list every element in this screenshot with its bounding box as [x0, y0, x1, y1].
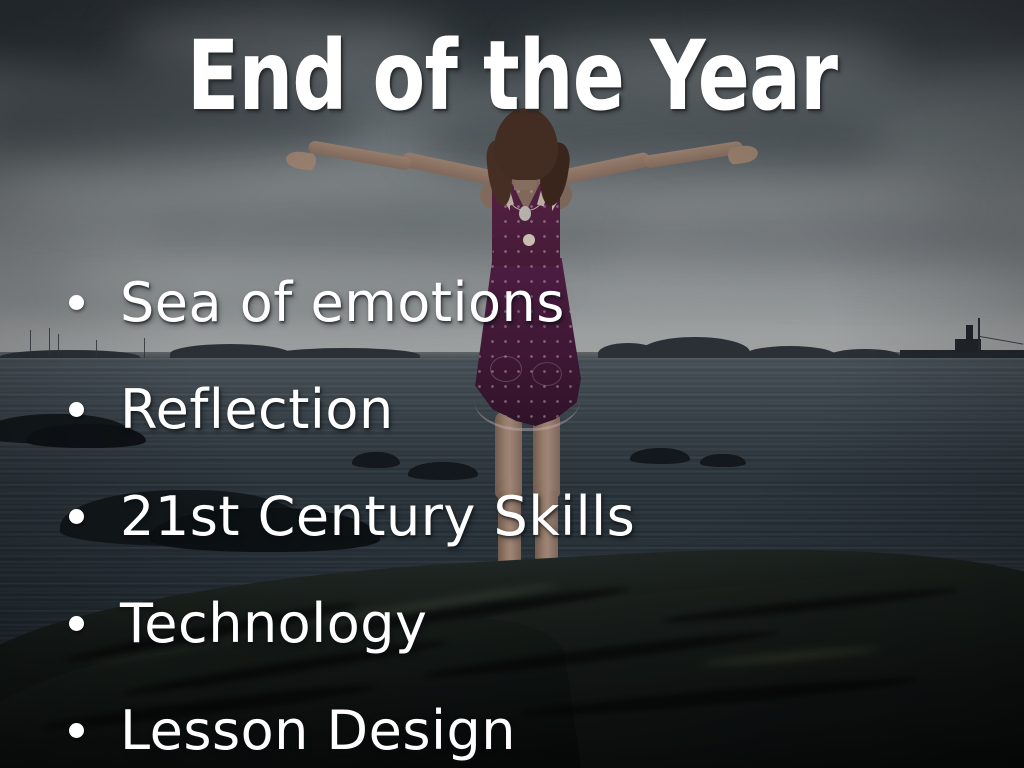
bullet-text: Reflection: [120, 381, 394, 439]
list-item: 21st Century Skills: [62, 463, 962, 570]
bullet-dot-icon: [69, 616, 84, 631]
list-item: Reflection: [62, 356, 962, 463]
bullet-text: Sea of emotions: [120, 274, 565, 332]
bullet-dot-icon: [69, 723, 84, 738]
bullet-dot-icon: [69, 295, 84, 310]
bullet-text: 21st Century Skills: [120, 488, 635, 546]
bullet-list: Sea of emotions Reflection 21st Century …: [62, 249, 962, 768]
list-item: Sea of emotions: [62, 249, 962, 356]
presentation-slide: End of the Year Sea of emotions Reflecti…: [0, 0, 1024, 768]
bullet-dot-icon: [69, 509, 84, 524]
slide-title: End of the Year: [102, 28, 921, 124]
bullet-text: Technology: [120, 595, 427, 653]
slide-content: End of the Year Sea of emotions Reflecti…: [0, 0, 1024, 768]
bullet-dot-icon: [69, 402, 84, 417]
list-item: Technology: [62, 570, 962, 677]
bullet-text: Lesson Design: [120, 702, 516, 760]
list-item: Lesson Design: [62, 677, 962, 768]
